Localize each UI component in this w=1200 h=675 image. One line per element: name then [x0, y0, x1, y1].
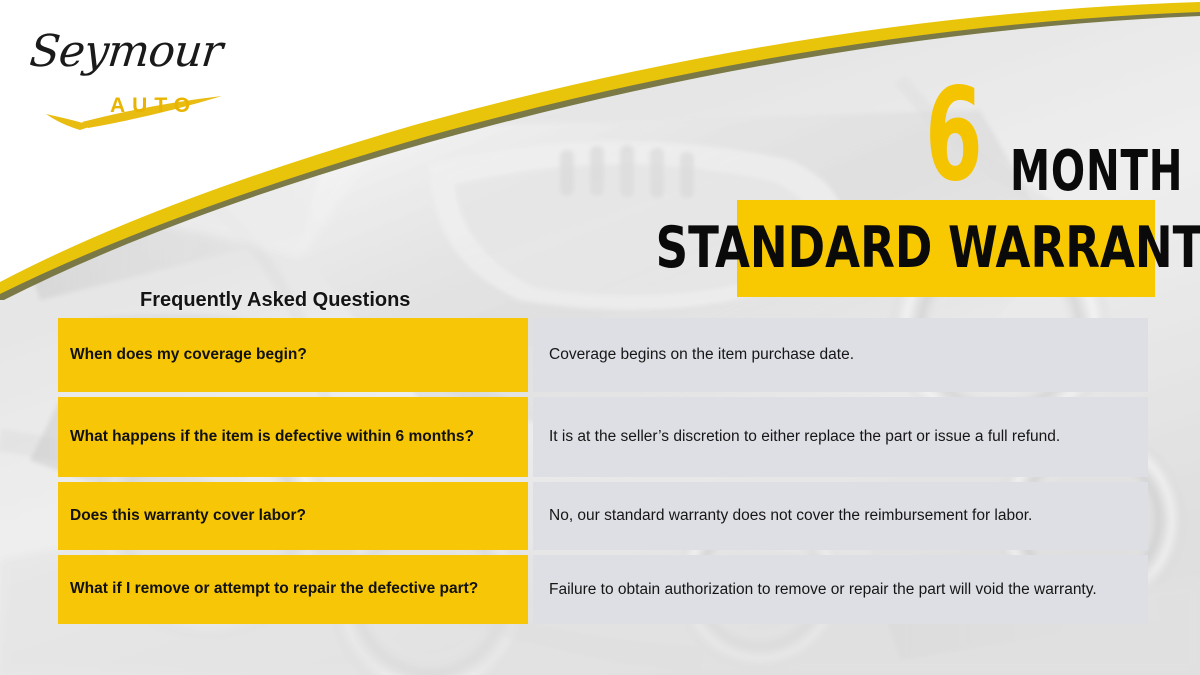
- faq-answer-text: No, our standard warranty does not cover…: [549, 505, 1134, 526]
- table-row: What happens if the item is defective wi…: [58, 397, 1148, 477]
- brand-subname: AUTO: [110, 94, 197, 118]
- warranty-headline: 6 MONTH: [735, 70, 1165, 190]
- warranty-duration-number: 6: [925, 72, 981, 200]
- faq-answer-cell: No, our standard warranty does not cover…: [533, 482, 1148, 550]
- faq-question-cell: When does my coverage begin?: [58, 318, 528, 392]
- faq-question-cell: What if I remove or attempt to repair th…: [58, 555, 528, 624]
- table-row: When does my coverage begin? Coverage be…: [58, 318, 1148, 392]
- faq-table: When does my coverage begin? Coverage be…: [58, 318, 1148, 624]
- faq-heading: Frequently Asked Questions: [140, 289, 410, 312]
- faq-answer-cell: It is at the seller’s discretion to eith…: [533, 397, 1148, 477]
- faq-answer-cell: Coverage begins on the item purchase dat…: [533, 318, 1148, 392]
- faq-question-cell: Does this warranty cover labor?: [58, 482, 528, 550]
- faq-question-text: When does my coverage begin?: [70, 345, 307, 366]
- table-row: Does this warranty cover labor? No, our …: [58, 482, 1148, 550]
- standard-warranty-label: STANDARD WARRANTY: [656, 220, 1200, 277]
- brand-logo: Seymour AUTO: [22, 18, 232, 133]
- table-row: What if I remove or attempt to repair th…: [58, 555, 1148, 624]
- standard-warranty-banner: STANDARD WARRANTY: [737, 200, 1155, 297]
- faq-question-text: Does this warranty cover labor?: [70, 506, 306, 527]
- warranty-slide: Seymour AUTO 6 MONTH STANDARD WARRANTY F…: [0, 0, 1200, 675]
- faq-question-cell: What happens if the item is defective wi…: [58, 397, 528, 477]
- brand-name: Seymour: [27, 26, 224, 77]
- faq-answer-cell: Failure to obtain authorization to remov…: [533, 555, 1148, 624]
- faq-question-text: What happens if the item is defective wi…: [70, 427, 474, 448]
- faq-answer-text: Failure to obtain authorization to remov…: [549, 579, 1134, 600]
- warranty-duration-unit: MONTH: [1010, 144, 1183, 200]
- faq-question-text: What if I remove or attempt to repair th…: [70, 579, 478, 600]
- faq-answer-text: It is at the seller’s discretion to eith…: [549, 426, 1134, 447]
- faq-answer-text: Coverage begins on the item purchase dat…: [549, 344, 1134, 365]
